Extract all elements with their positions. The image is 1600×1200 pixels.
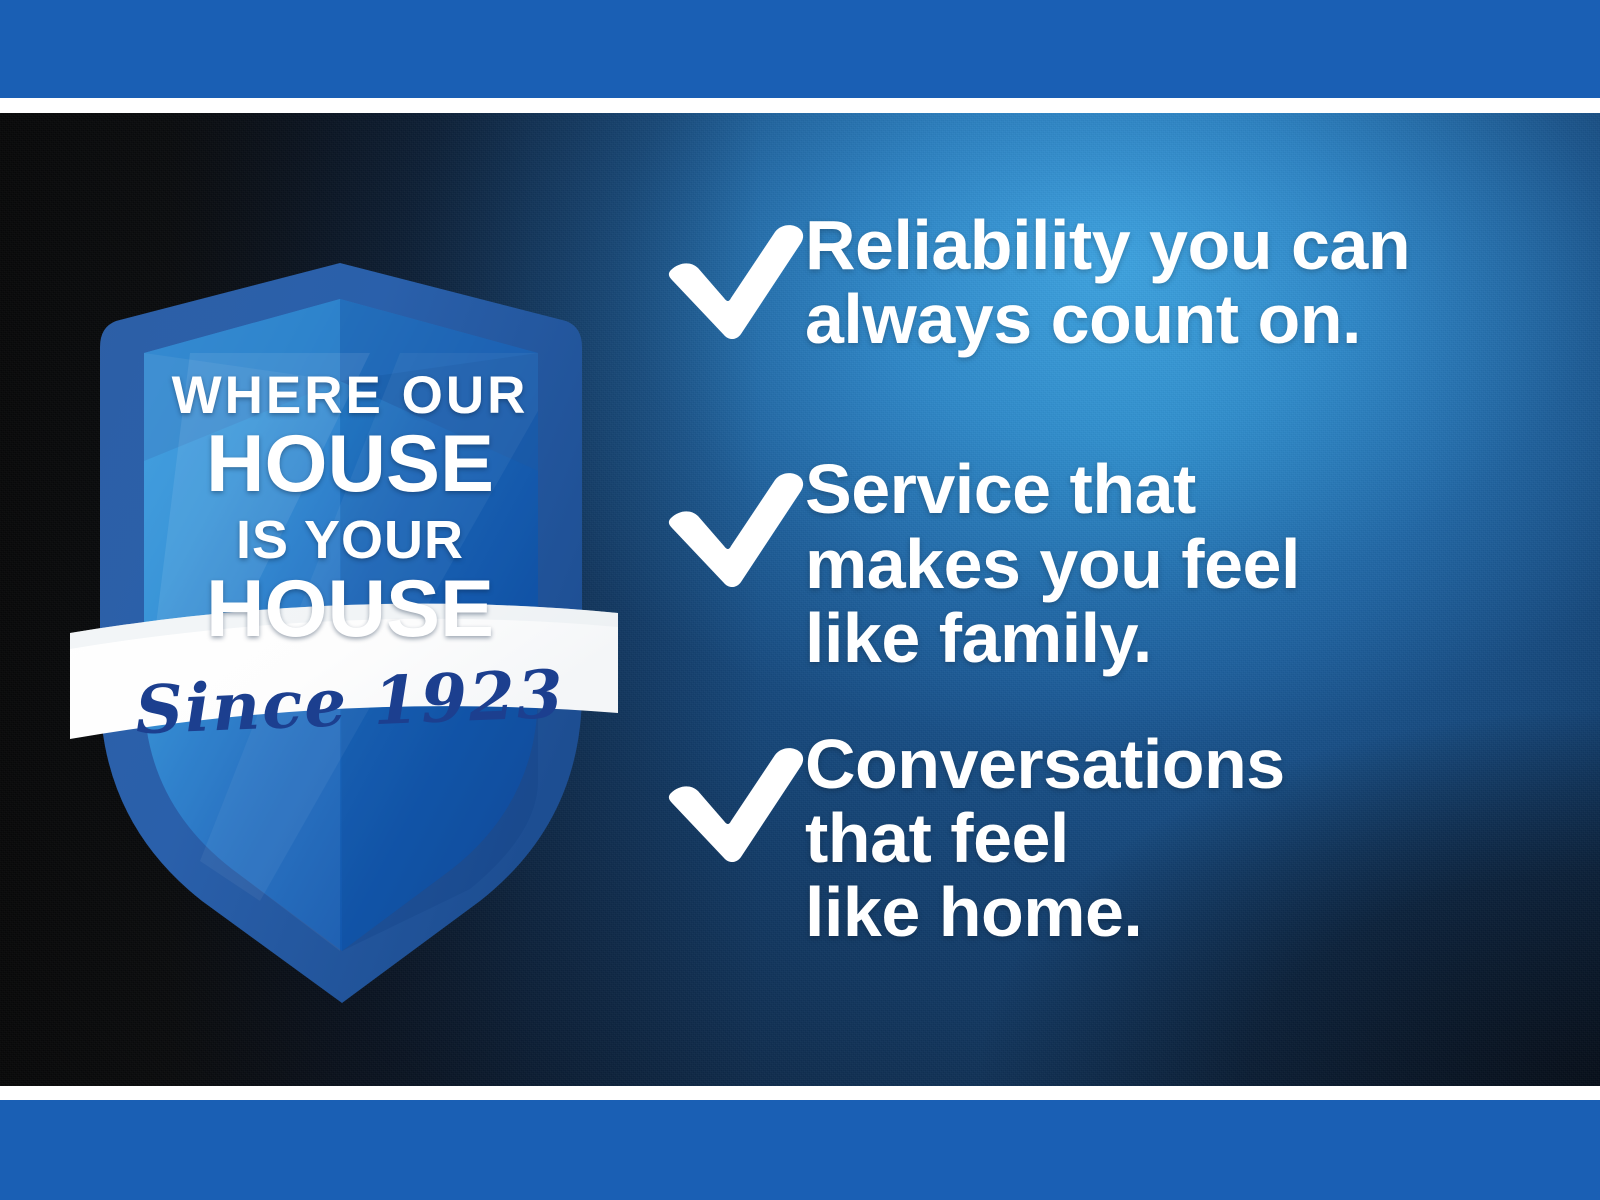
badge-line-house-1: HOUSE — [70, 424, 630, 505]
main-canvas: WHERE OUR HOUSE IS YOUR HOUSE Since 1923… — [0, 113, 1600, 1086]
badge-line-is-your: IS YOUR — [70, 513, 630, 567]
list-item-text: Conversations that feel like home. — [805, 727, 1545, 950]
benefit-list: Reliability you can always count on. Ser… — [665, 208, 1545, 950]
check-mark-icon — [665, 222, 805, 342]
bottom-brand-bar — [0, 1100, 1600, 1200]
top-brand-bar — [0, 0, 1600, 98]
check-mark-icon — [665, 745, 805, 865]
badge-since-text: Since 1923 — [69, 658, 631, 745]
bottom-white-divider — [0, 1086, 1600, 1100]
check-mark-icon — [665, 470, 805, 590]
list-item: Conversations that feel like home. — [665, 727, 1545, 950]
list-item-text: Reliability you can always count on. — [805, 208, 1545, 356]
list-item: Service that makes you feel like family. — [665, 452, 1545, 675]
promo-graphic: WHERE OUR HOUSE IS YOUR HOUSE Since 1923… — [0, 0, 1600, 1200]
brand-shield-badge: WHERE OUR HOUSE IS YOUR HOUSE Since 1923 — [70, 261, 630, 1061]
list-item-text: Service that makes you feel like family. — [805, 452, 1545, 675]
badge-line-where-our: WHERE OUR — [70, 369, 630, 422]
badge-line-house-2: HOUSE — [70, 569, 630, 650]
top-white-divider — [0, 98, 1600, 113]
list-item: Reliability you can always count on. — [665, 208, 1545, 356]
